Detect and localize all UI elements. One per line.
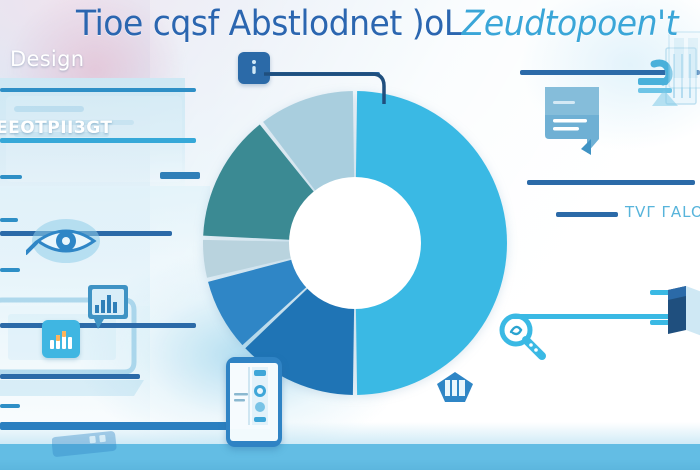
- page-title-part2: Zeudtopoen't: [462, 2, 678, 43]
- page-title: Tioe cqsf Abstlodnet )oLZeudtopoen't: [76, 2, 676, 43]
- connector-left-3: [0, 175, 22, 179]
- infographic-canvas: Segment A: 50Segment B: 13Segment C: 8Se…: [0, 0, 700, 470]
- donut-center-hole: [289, 177, 421, 309]
- smartphone-ui-icon: [230, 363, 270, 429]
- connector-top-center: [268, 72, 380, 76]
- label-callout: TVΓ ΓALOKNM: [625, 203, 700, 221]
- bar-chart-glyph-icon: [49, 329, 73, 349]
- connector-left-4: [0, 218, 18, 222]
- info-glyph-icon: [247, 59, 261, 77]
- document-card-icon[interactable]: [541, 83, 603, 161]
- smartphone-screen: [230, 363, 278, 441]
- connector-right-3: [556, 212, 618, 217]
- connector-left-6: [0, 268, 20, 272]
- connector-badge-1: [160, 172, 200, 179]
- donut-chart: Segment A: 50Segment B: 13Segment C: 8Se…: [200, 88, 510, 398]
- page-title-part1: Tioe cqsf Abstlodnet )oL: [76, 2, 462, 43]
- connector-left-2: [0, 138, 196, 143]
- info-tile-icon[interactable]: [238, 52, 270, 84]
- connector-right-2: [527, 180, 695, 185]
- eye-search-icon[interactable]: [26, 215, 102, 271]
- card-decoration-icon: [52, 430, 122, 460]
- donut-chart-svg[interactable]: Segment A: 50Segment B: 13Segment C: 8Se…: [200, 88, 510, 398]
- connector-top-left: [0, 88, 196, 92]
- connector-left-8: [0, 374, 140, 379]
- diamond-grid-icon[interactable]: [432, 367, 478, 411]
- label-design: Design: [10, 47, 84, 71]
- search-magnifier-icon[interactable]: [496, 310, 552, 366]
- label-section: EEOTPII3GT: [0, 118, 112, 138]
- open-book-icon[interactable]: [664, 284, 700, 346]
- report-card-icon[interactable]: [86, 283, 134, 329]
- smartphone-icon[interactable]: [226, 357, 282, 447]
- connector-left-9: [0, 404, 20, 408]
- bar-chart-icon[interactable]: [42, 320, 80, 358]
